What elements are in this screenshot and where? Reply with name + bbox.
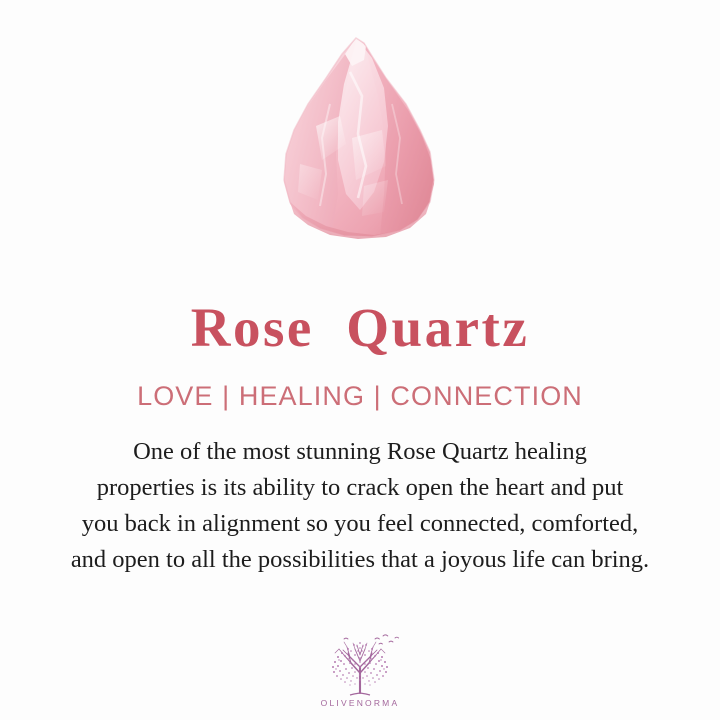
description-line: and open to all the possibilities that a… bbox=[30, 542, 690, 578]
brand-wordmark: OLIVENORMA bbox=[321, 698, 400, 708]
rose-quartz-crystal-icon bbox=[260, 34, 460, 246]
tree-of-life-icon bbox=[317, 631, 403, 697]
description-line: you back in alignment so you feel connec… bbox=[30, 506, 690, 542]
keywords-subtitle: LOVE | HEALING | CONNECTION bbox=[137, 381, 583, 412]
birds-icon bbox=[344, 635, 399, 644]
description-line: One of the most stunning Rose Quartz hea… bbox=[30, 434, 690, 470]
page-title: Rose Quartz bbox=[191, 300, 530, 355]
rose-quartz-info-card: Rose Quartz LOVE | HEALING | CONNECTION … bbox=[0, 0, 720, 720]
description-line: properties is its ability to crack open … bbox=[30, 470, 690, 506]
description-text: One of the most stunning Rose Quartz hea… bbox=[30, 434, 690, 578]
brand-logo: OLIVENORMA bbox=[0, 631, 720, 708]
crystal-image-container bbox=[0, 0, 720, 270]
